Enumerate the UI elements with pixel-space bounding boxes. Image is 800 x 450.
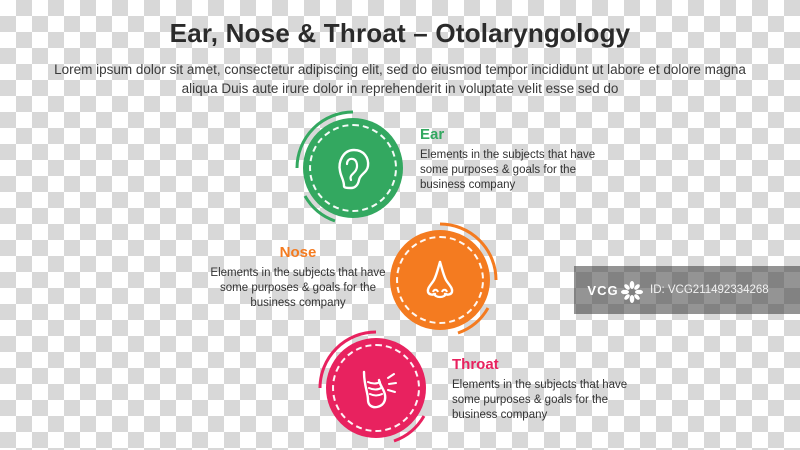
watermark-bar: VCG ID: VCG211492334268 <box>574 266 800 314</box>
text-nose: Nose Elements in the subjects that have … <box>198 244 398 311</box>
infographic-canvas: Ear, Nose & Throat – Otolaryngology Lore… <box>0 0 800 450</box>
description-nose: Elements in the subjects that have some … <box>198 266 398 311</box>
ear-icon <box>303 118 403 218</box>
watermark-flower-icon <box>620 280 644 304</box>
node-nose[interactable] <box>382 222 498 338</box>
text-throat: Throat Elements in the subjects that hav… <box>452 356 652 423</box>
row-throat: Throat Elements in the subjects that hav… <box>0 330 800 450</box>
watermark-id: ID: VCG211492334268 <box>650 284 769 296</box>
label-nose: Nose <box>198 244 398 261</box>
throat-icon <box>326 338 426 438</box>
page-title: Ear, Nose & Throat – Otolaryngology <box>0 18 800 49</box>
description-throat: Elements in the subjects that have some … <box>452 378 652 423</box>
row-ear: Ear Elements in the subjects that have s… <box>0 110 800 230</box>
text-ear: Ear Elements in the subjects that have s… <box>420 126 620 193</box>
nose-icon <box>390 230 490 330</box>
description-ear: Elements in the subjects that have some … <box>420 148 620 193</box>
node-throat[interactable] <box>318 330 434 446</box>
page-subtitle: Lorem ipsum dolor sit amet, consectetur … <box>50 60 750 98</box>
label-throat: Throat <box>452 356 652 373</box>
node-ear[interactable] <box>295 110 411 226</box>
label-ear: Ear <box>420 126 620 143</box>
